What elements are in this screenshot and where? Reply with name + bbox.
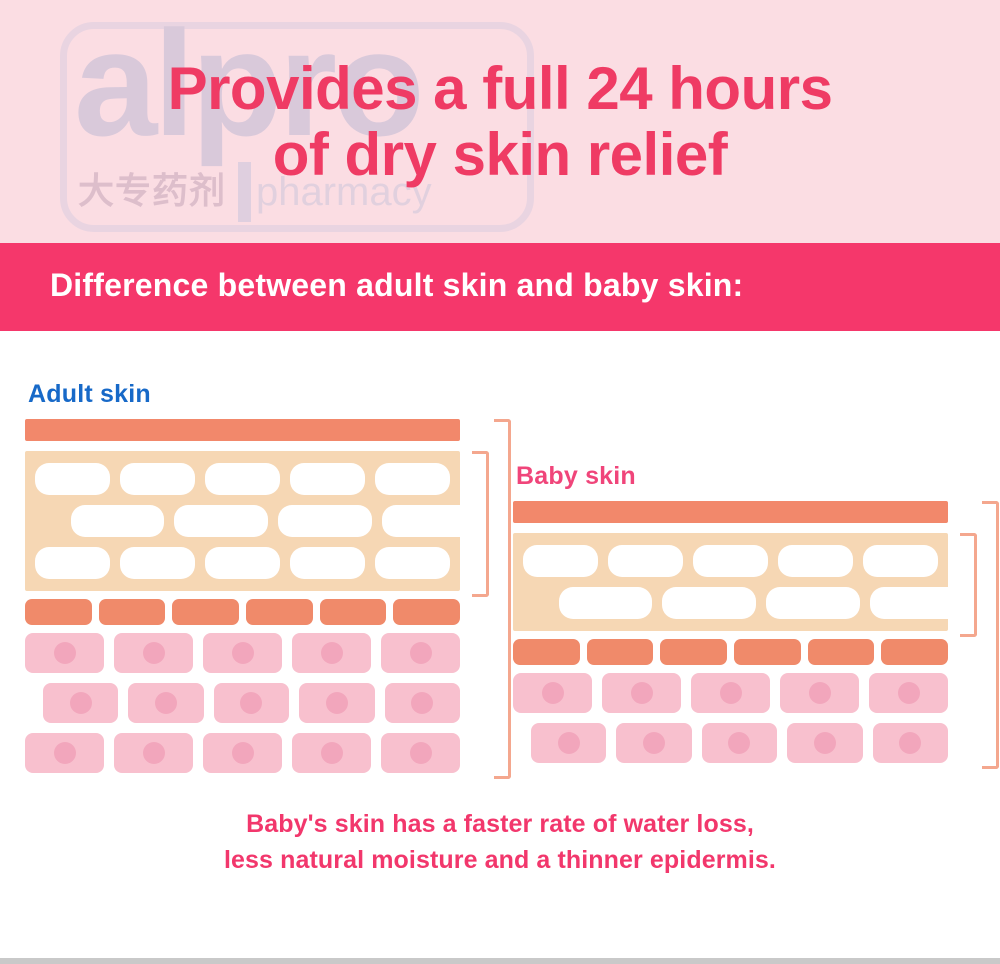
cell-nucleus: [321, 642, 343, 664]
epidermis-layer: [513, 533, 948, 631]
basal-cell: [25, 599, 92, 625]
dermis-cell-row: [25, 733, 460, 773]
basal-cell: [734, 639, 801, 665]
cell-nucleus: [898, 682, 920, 704]
epidermis-layer: [25, 451, 460, 591]
basal-cell: [660, 639, 727, 665]
cell-nucleus: [411, 692, 433, 714]
cell-nucleus: [155, 692, 177, 714]
dermis-cell: [214, 683, 289, 723]
dermis-cell: [381, 733, 460, 773]
dermis-cell: [25, 633, 104, 673]
basal-cell: [513, 639, 580, 665]
cell-nucleus: [410, 642, 432, 664]
basal-cell: [808, 639, 875, 665]
epidermis-cell: [290, 463, 365, 495]
dermis-cell: [43, 683, 118, 723]
epidermis-cell-row: [35, 463, 450, 495]
epidermis-cell: [382, 505, 460, 537]
epidermis-cell: [375, 547, 450, 579]
basal-cell: [99, 599, 166, 625]
cell-nucleus: [143, 642, 165, 664]
baby-skin-label: Baby skin: [516, 462, 636, 491]
dermis-cell: [128, 683, 203, 723]
epidermis-cell-row: [559, 587, 948, 619]
cell-nucleus: [899, 732, 921, 754]
dermis-cell: [381, 633, 460, 673]
cell-nucleus: [326, 692, 348, 714]
epidermis-cell: [120, 547, 195, 579]
dermis-cell: [873, 723, 948, 763]
hero-title: Provides a full 24 hours of dry skin rel…: [0, 56, 1000, 188]
epidermis-cell: [766, 587, 860, 619]
cell-nucleus: [814, 732, 836, 754]
cell-nucleus: [728, 732, 750, 754]
epidermis-cell: [523, 545, 598, 577]
dermis-cell: [602, 673, 681, 713]
basal-layer-row: [25, 599, 460, 625]
cell-nucleus: [54, 742, 76, 764]
basal-cell: [393, 599, 460, 625]
epidermis-cell: [375, 463, 450, 495]
epidermis-cell: [863, 545, 938, 577]
dermis-cell: [616, 723, 691, 763]
dermis-cell: [691, 673, 770, 713]
cell-nucleus: [70, 692, 92, 714]
epidermis-cell: [693, 545, 768, 577]
full-skin-bracket: [982, 501, 999, 769]
cell-nucleus: [558, 732, 580, 754]
dermis-cell-row: [531, 723, 948, 763]
footnote-text: Baby's skin has a faster rate of water l…: [0, 806, 1000, 878]
dermis-cell: [114, 733, 193, 773]
epidermis-cell-row: [35, 547, 450, 579]
cell-nucleus: [232, 642, 254, 664]
epidermis-cell: [35, 547, 110, 579]
epidermis-cell: [71, 505, 165, 537]
cell-nucleus: [321, 742, 343, 764]
epidermis-cell: [870, 587, 948, 619]
cell-nucleus: [143, 742, 165, 764]
cell-nucleus: [542, 682, 564, 704]
section-band: Difference between adult skin and baby s…: [0, 243, 1000, 331]
epidermis-cell: [174, 505, 268, 537]
dermis-cell: [25, 733, 104, 773]
epidermis-cell: [608, 545, 683, 577]
dermis-cell: [869, 673, 948, 713]
skin-surface-layer: [513, 501, 948, 523]
cell-nucleus: [720, 682, 742, 704]
basal-cell: [246, 599, 313, 625]
epidermis-cell: [662, 587, 756, 619]
epidermis-cell: [778, 545, 853, 577]
basal-cell: [587, 639, 654, 665]
dermis-cell: [292, 633, 371, 673]
epidermis-bracket: [472, 451, 489, 597]
cell-nucleus: [643, 732, 665, 754]
cell-nucleus: [809, 682, 831, 704]
epidermis-cell: [290, 547, 365, 579]
cell-nucleus: [232, 742, 254, 764]
dermis-cell: [780, 673, 859, 713]
dermis-cell: [787, 723, 862, 763]
full-skin-bracket: [494, 419, 511, 779]
dermis-cell-row: [513, 673, 948, 713]
dermis-cell: [385, 683, 460, 723]
epidermis-cell: [35, 463, 110, 495]
basal-layer-row: [513, 639, 948, 665]
epidermis-cell: [559, 587, 653, 619]
epidermis-cell: [120, 463, 195, 495]
epidermis-cell-row: [523, 545, 938, 577]
epidermis-cell: [278, 505, 372, 537]
dermis-cell: [702, 723, 777, 763]
dermis-cell-row: [25, 633, 460, 673]
epidermis-cell-row: [71, 505, 460, 537]
dermis-cell: [292, 733, 371, 773]
dermis-cell-row: [43, 683, 460, 723]
epidermis-cell: [205, 463, 280, 495]
dermis-cell: [299, 683, 374, 723]
basal-cell: [881, 639, 948, 665]
basal-cell: [172, 599, 239, 625]
hero-section: alpro 大专药剂 pharmacy Provides a full 24 h…: [0, 0, 1000, 243]
epidermis-cell: [205, 547, 280, 579]
dermis-cell: [203, 733, 282, 773]
section-band-title: Difference between adult skin and baby s…: [50, 267, 743, 304]
dermis-cell: [513, 673, 592, 713]
skin-surface-layer: [25, 419, 460, 441]
adult-skin-label: Adult skin: [28, 380, 151, 409]
infographic-page: alpro 大专药剂 pharmacy Provides a full 24 h…: [0, 0, 1000, 964]
cell-nucleus: [410, 742, 432, 764]
epidermis-bracket: [960, 533, 977, 637]
cell-nucleus: [54, 642, 76, 664]
bottom-bar: [0, 958, 1000, 964]
dermis-cell: [114, 633, 193, 673]
cell-nucleus: [240, 692, 262, 714]
dermis-cell: [203, 633, 282, 673]
basal-cell: [320, 599, 387, 625]
cell-nucleus: [631, 682, 653, 704]
dermis-cell: [531, 723, 606, 763]
